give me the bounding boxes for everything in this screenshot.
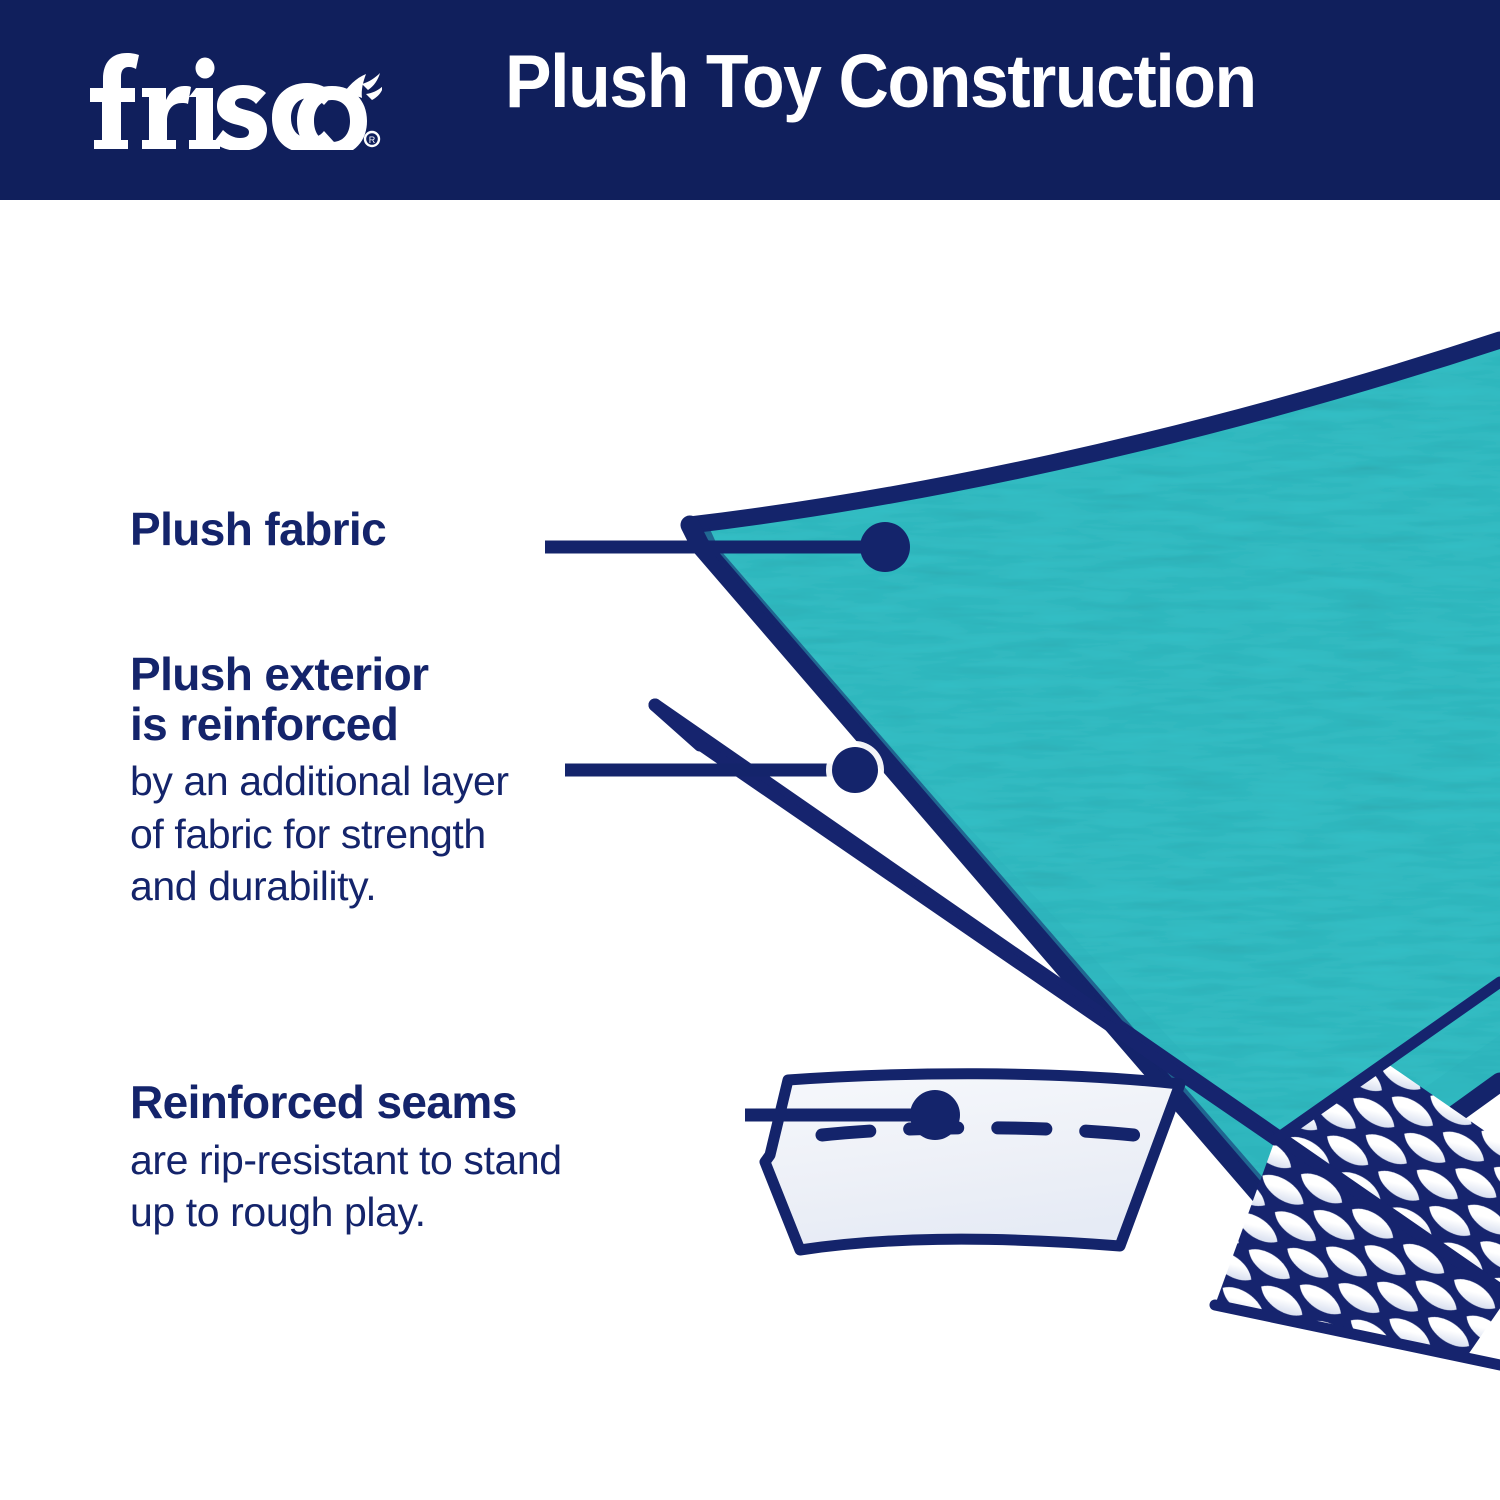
reinforced-seam-flap — [765, 1074, 1180, 1250]
leader-dot-plush-exterior — [832, 747, 878, 793]
callout-heading: Reinforced seams — [130, 1078, 790, 1128]
page-title: Plush Toy Construction — [505, 44, 1256, 119]
leader-dot-reinforced-seams — [910, 1090, 960, 1140]
callout-heading: Plush fabric — [130, 505, 560, 555]
callout-body: by an additional layer of fabric for str… — [130, 755, 720, 912]
leader-dot-plush-fabric — [860, 522, 910, 572]
callout-heading: Plush exterior is reinforced — [130, 650, 720, 749]
svg-text:R: R — [369, 135, 376, 145]
header-bar: R Plush Toy Construction — [0, 0, 1500, 200]
frisco-logo: R — [72, 42, 382, 150]
callout-plush-exterior-reinforced: Plush exterior is reinforced by an addit… — [130, 650, 720, 913]
callout-body: are rip-resistant to stand up to rough p… — [130, 1134, 790, 1239]
callout-reinforced-seams: Reinforced seams are rip-resistant to st… — [130, 1078, 790, 1239]
infographic-page: R Plush Toy Construction — [0, 0, 1500, 1500]
callout-plush-fabric: Plush fabric — [130, 505, 560, 555]
